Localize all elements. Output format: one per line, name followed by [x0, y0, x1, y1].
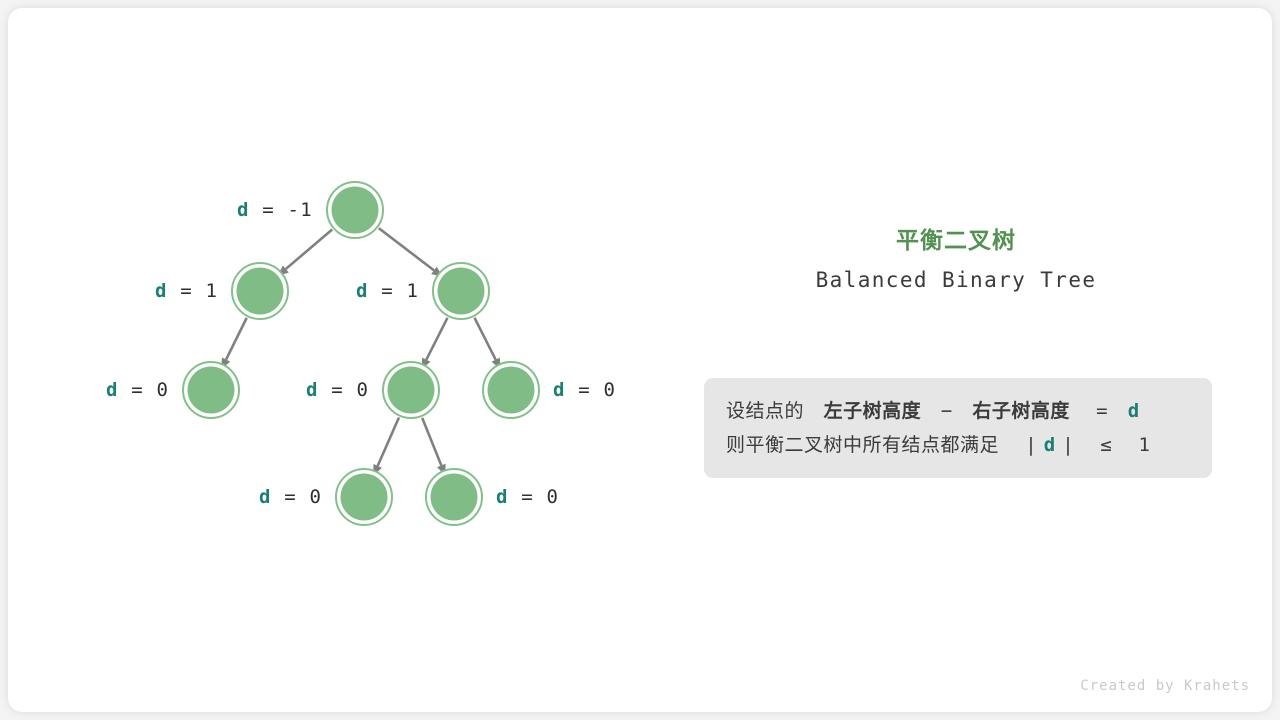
label-variable-d: d: [306, 379, 319, 401]
label-balance-value: = 1: [381, 280, 419, 302]
label-balance-value: = 0: [578, 379, 616, 401]
tree-edge: [426, 318, 447, 360]
tree-node-fill: [438, 268, 485, 315]
label-balance-value: = 1: [180, 280, 218, 302]
node-balance-label: d = 0: [553, 381, 616, 400]
tree-node-fill: [388, 367, 435, 414]
label-variable-d: d: [496, 486, 509, 508]
tree-node-fill: [488, 367, 535, 414]
term-left-subtree-height: 左子树高度: [824, 400, 922, 422]
less-equal-operator: ≤: [1100, 434, 1112, 456]
label-variable-d: d: [237, 199, 250, 221]
term-right-subtree-height: 右子树高度: [972, 400, 1070, 422]
label-balance-value: = 0: [331, 379, 369, 401]
label-balance-value: = 0: [131, 379, 169, 401]
node-balance-label: d = 0: [496, 488, 559, 507]
variable-d: d: [1128, 400, 1140, 422]
tree-node[interactable]: [483, 362, 539, 418]
tree-node[interactable]: [426, 469, 482, 525]
tree-node[interactable]: [183, 362, 239, 418]
tree-edge: [422, 418, 441, 466]
slide-card: d = -1d = 1d = 1d = 0d = 0d = 0d = 0d = …: [8, 8, 1272, 712]
definition-line-2: 则平衡二叉树中所有结点都满足 | d | ≤ 1: [726, 428, 1190, 462]
tree-edge: [226, 318, 247, 360]
label-variable-d: d: [356, 280, 369, 302]
tree-node[interactable]: [327, 182, 383, 238]
page-subtitle: Balanced Binary Tree: [696, 268, 1216, 292]
tree-edge: [286, 229, 332, 268]
label-variable-d: d: [553, 379, 566, 401]
label-balance-value: = -1: [262, 199, 313, 221]
tree-edge: [475, 318, 496, 360]
credit-text: Created by Krahets: [1080, 678, 1250, 694]
binary-tree-diagram: [8, 8, 1272, 712]
tree-edge: [378, 417, 399, 465]
node-balance-label: d = 0: [306, 381, 369, 400]
label-variable-d: d: [106, 379, 119, 401]
label-balance-value: = 0: [284, 486, 322, 508]
node-balance-label: d = 0: [259, 488, 322, 507]
title-panel: 平衡二叉树 Balanced Binary Tree: [696, 228, 1216, 292]
tree-nodes: [183, 182, 539, 525]
label-variable-d: d: [155, 280, 168, 302]
definition-box: 设结点的 左子树高度 − 右子树高度 = d 则平衡二叉树中所有结点都满足 | …: [704, 378, 1212, 478]
tree-node-fill: [237, 268, 284, 315]
tree-node-fill: [341, 474, 388, 521]
definition-line-1: 设结点的 左子树高度 − 右子树高度 = d: [726, 394, 1190, 428]
node-balance-label: d = 1: [356, 282, 419, 301]
definition-prefix: 设结点的: [726, 400, 804, 422]
abs-bar-open: |: [1025, 434, 1037, 456]
minus-operator: −: [941, 400, 953, 422]
canvas-background: d = -1d = 1d = 1d = 0d = 0d = 0d = 0d = …: [0, 0, 1280, 720]
node-balance-label: d = 0: [106, 381, 169, 400]
tree-node[interactable]: [232, 263, 288, 319]
tree-node-fill: [431, 474, 478, 521]
abs-bar-close: |: [1062, 434, 1074, 456]
node-balance-label: d = 1: [155, 282, 218, 301]
tree-node[interactable]: [383, 362, 439, 418]
tree-node-fill: [332, 187, 379, 234]
tree-node-fill: [188, 367, 235, 414]
tree-node[interactable]: [336, 469, 392, 525]
label-variable-d: d: [259, 486, 272, 508]
variable-d: d: [1044, 434, 1056, 456]
tree-node[interactable]: [433, 263, 489, 319]
condition-value: 1: [1138, 434, 1150, 456]
equals-operator: =: [1096, 400, 1108, 422]
tree-edge: [379, 228, 434, 270]
node-balance-label: d = -1: [237, 201, 313, 220]
label-balance-value: = 0: [521, 486, 559, 508]
condition-prefix: 则平衡二叉树中所有结点都满足: [726, 434, 999, 456]
page-title: 平衡二叉树: [696, 228, 1216, 256]
